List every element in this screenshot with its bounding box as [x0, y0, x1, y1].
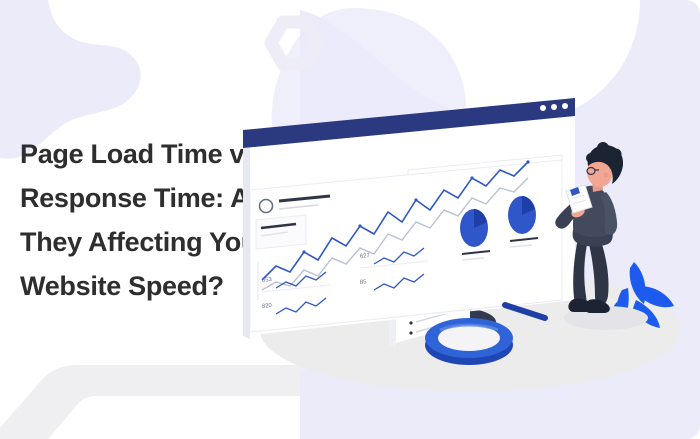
window-edge-shade	[243, 130, 250, 339]
svg-text:85: 85	[360, 279, 368, 286]
kpi-card-left	[256, 215, 306, 249]
person-hair-curl-3	[611, 149, 622, 160]
person-front-leg	[573, 238, 588, 306]
svg-text:820: 820	[262, 303, 273, 310]
person-hair-curl-2	[597, 142, 609, 154]
illustration-analytics-dashboard: 653 820 627 85	[0, 0, 700, 439]
floating-browser-window: 653 820 627 85	[243, 98, 575, 339]
svg-text:627: 627	[360, 253, 371, 260]
banner: Page Load Time vs Response Time: Are The…	[0, 0, 700, 439]
person-ear	[604, 173, 609, 178]
person-hair-curl-1	[586, 153, 596, 163]
svg-text:653: 653	[262, 277, 273, 284]
